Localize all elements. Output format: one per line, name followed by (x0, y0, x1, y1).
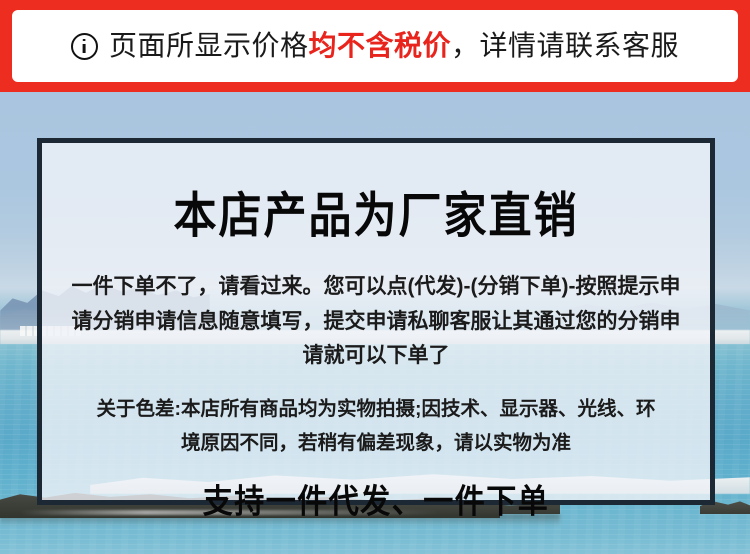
tax-notice-text-highlight: 均不含税价 (308, 30, 451, 61)
dropship-instructions-line-1: 一件下单不了，请看过来。您可以点(代发)-(分销下单)-按照提示申 (71, 270, 681, 305)
color-difference-note-line-2: 境原因不同，若稍有偏差现象，请以实物为准 (76, 426, 676, 460)
store-info-panel-body: 本店产品为厂家直销 一件下单不了，请看过来。您可以点(代发)-(分销下单)-按照… (42, 143, 710, 500)
tax-notice-text-before: 页面所显示价格 (109, 30, 309, 61)
dropship-instructions-line-2: 请分销申请信息随意填写，提交申请私聊客服让其通过您的分销申 (71, 305, 681, 340)
dropship-instructions-line-3: 请就可以下单了 (71, 339, 681, 374)
color-difference-note-line-1: 关于色差:本店所有商品均为实物拍摄;因技术、显示器、光线、环 (76, 392, 676, 426)
dropship-instructions: 一件下单不了，请看过来。您可以点(代发)-(分销下单)-按照提示申 请分销申请信… (71, 270, 681, 374)
tax-notice-banner: 页面所显示价格均不含税价，详情请联系客服 (0, 0, 750, 92)
store-info-panel: 本店产品为厂家直销 一件下单不了，请看过来。您可以点(代发)-(分销下单)-按照… (37, 138, 715, 505)
info-circle-icon (71, 33, 98, 60)
color-difference-note: 关于色差:本店所有商品均为实物拍摄;因技术、显示器、光线、环 境原因不同，若稍有… (76, 392, 676, 460)
tax-notice-banner-inner: 页面所显示价格均不含税价，详情请联系客服 (12, 10, 738, 82)
tax-notice-text: 页面所显示价格均不含税价，详情请联系客服 (109, 32, 679, 60)
promo-banner-image: 页面所显示价格均不含税价，详情请联系客服 本店产品为厂家直销 一件下单不了，请看… (0, 0, 750, 554)
tax-notice-text-after: ，详情请联系客服 (451, 30, 679, 61)
panel-headline: 本店产品为厂家直销 (174, 193, 579, 241)
panel-footline: 支持一件代发、一件下单 (203, 474, 550, 522)
